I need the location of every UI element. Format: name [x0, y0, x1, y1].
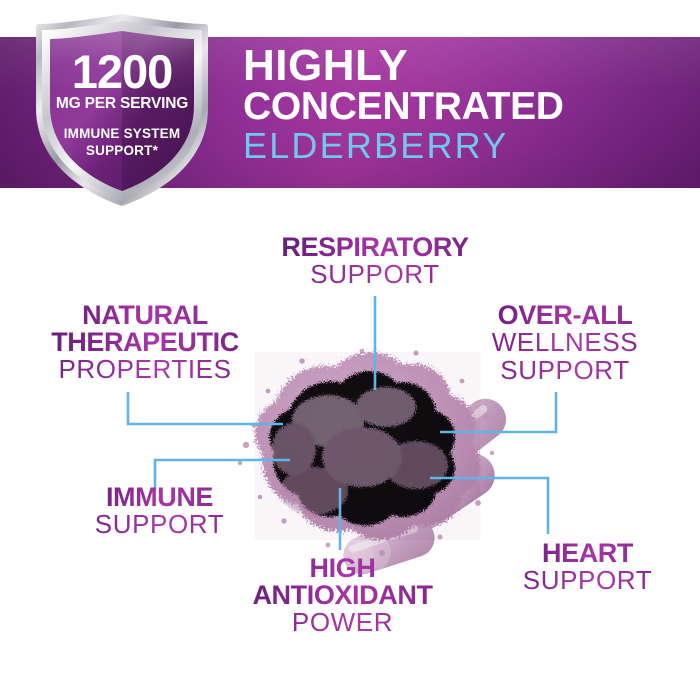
callout-respiratory: RESPIRATORY SUPPORT [250, 234, 500, 289]
shield-icon [28, 12, 216, 208]
callout-overall-wellness: OVER-ALL WELLNESS SUPPORT [450, 302, 680, 384]
callout-natural-title-line-1: NATURAL [20, 302, 270, 329]
callout-overall-title: OVER-ALL [450, 302, 680, 329]
callout-respiratory-title: RESPIRATORY [250, 234, 500, 261]
callout-overall-subtitle-line-1: WELLNESS [450, 329, 680, 357]
callout-immune-subtitle: SUPPORT [52, 511, 267, 539]
callout-immune: IMMUNE SUPPORT [52, 484, 267, 539]
callout-natural-title-line-2: THERAPEUTIC [20, 329, 270, 356]
callout-antioxidant: HIGH ANTIOXIDANT POWER [205, 555, 480, 637]
headline-ingredient: ELDERBERRY [243, 127, 673, 165]
headline-primary: HIGHLY [243, 45, 673, 87]
product-infographic: HIGHLY CONCENTRATED ELDERBERRY [0, 0, 700, 700]
callout-antioxidant-subtitle: POWER [205, 609, 480, 637]
callout-natural-therapeutic: NATURAL THERAPEUTIC PROPERTIES [20, 302, 270, 384]
callout-antioxidant-title-line-2: ANTIOXIDANT [205, 582, 480, 609]
banner-headline-group: HIGHLY CONCENTRATED ELDERBERRY [243, 45, 673, 165]
callout-overall-subtitle-line-2: SUPPORT [450, 357, 680, 385]
callout-respiratory-subtitle: SUPPORT [250, 261, 500, 289]
callout-heart: HEART SUPPORT [490, 540, 685, 595]
callout-heart-title: HEART [490, 540, 685, 567]
shield-gloss [50, 31, 194, 95]
headline-secondary: CONCENTRATED [243, 87, 673, 127]
callout-natural-subtitle: PROPERTIES [20, 356, 270, 384]
shield-badge: 1200 MG PER SERVING IMMUNE SYSTEM SUPPOR… [28, 12, 216, 208]
callout-heart-subtitle: SUPPORT [490, 567, 685, 595]
callout-antioxidant-title-line-1: HIGH [205, 555, 480, 582]
callout-immune-title: IMMUNE [52, 484, 267, 511]
